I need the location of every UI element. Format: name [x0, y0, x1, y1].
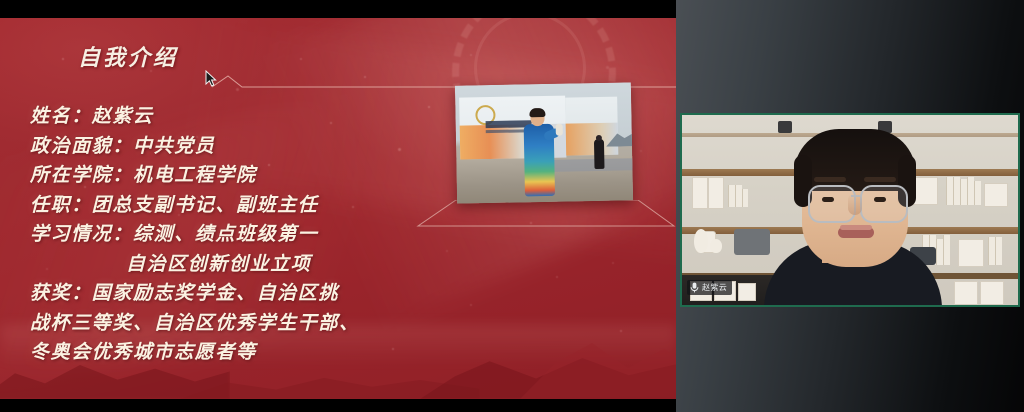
- slide-line: 所在学院：机电工程学院: [30, 161, 460, 191]
- slide-body-text: 姓名：赵紫云 政治面貌：中共党员 所在学院：机电工程学院 任职：团总支副书记、副…: [30, 102, 460, 368]
- slide-line: 获奖：国家励志奖学金、自治区挑: [30, 279, 460, 309]
- participant-video-tile[interactable]: 赵紫云: [680, 113, 1020, 307]
- slide-line: 自治区创新创业立项: [30, 250, 460, 280]
- participant-name-badge: 赵紫云: [687, 280, 732, 295]
- letterbox-bar-bottom: [0, 399, 676, 412]
- participant-name: 赵紫云: [702, 282, 727, 293]
- slide-line: 姓名：赵紫云: [30, 102, 460, 132]
- meeting-window: 自我介绍 姓名：赵紫云 政治面貌：中共党员 所在学院：机电工程学院 任职：团总支…: [0, 0, 1024, 412]
- slide-line: 冬奥会优秀城市志愿者等: [30, 338, 460, 368]
- microphone-icon: [690, 282, 699, 293]
- slide-photo: [455, 82, 633, 203]
- presentation-slide[interactable]: 自我介绍 姓名：赵紫云 政治面貌：中共党员 所在学院：机电工程学院 任职：团总支…: [0, 18, 676, 399]
- shared-screen-region[interactable]: 自我介绍 姓名：赵紫云 政治面貌：中共党员 所在学院：机电工程学院 任职：团总支…: [0, 0, 676, 412]
- slide-line: 政治面貌：中共党员: [30, 132, 460, 162]
- slide-line: 学习情况：综测、绩点班级第一: [30, 220, 460, 250]
- slide-line: 战杯三等奖、自治区优秀学生干部、: [30, 309, 460, 339]
- participant-panel: 赵紫云: [676, 0, 1024, 412]
- slide-title: 自我介绍: [78, 40, 178, 72]
- eyeglasses-icon: [860, 185, 908, 223]
- letterbox-bar-top: [0, 0, 676, 18]
- mouse-cursor-icon: [205, 70, 217, 88]
- slide-line: 任职：团总支副书记、副班主任: [30, 191, 460, 221]
